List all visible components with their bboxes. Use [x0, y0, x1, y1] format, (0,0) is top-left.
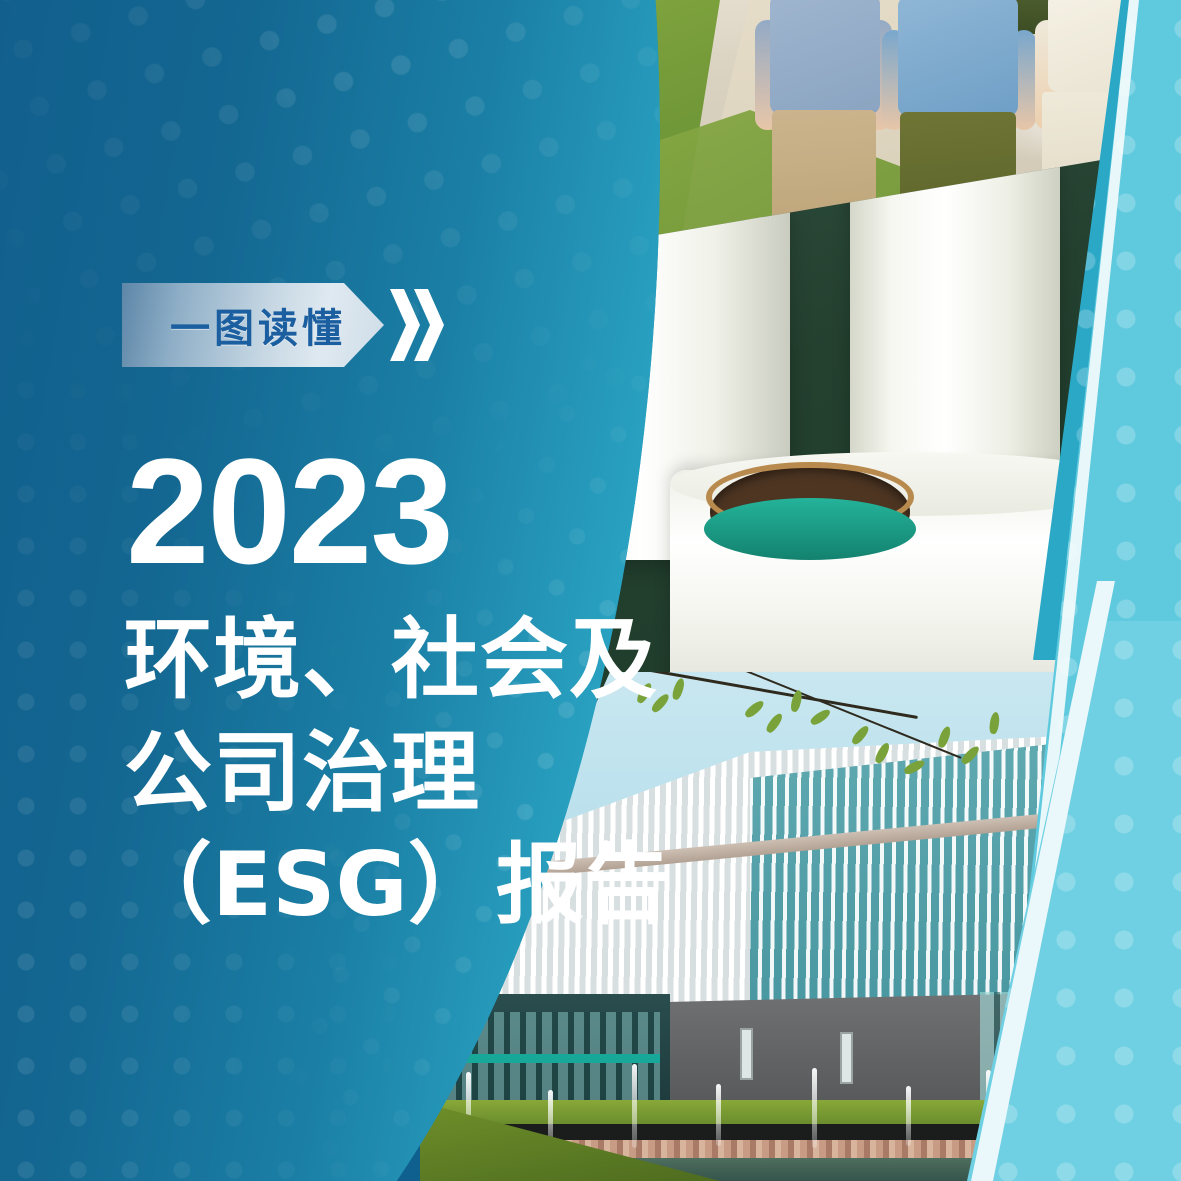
year-heading: 2023 — [126, 436, 452, 586]
teal-tape-band — [704, 498, 916, 560]
title-line-2: 公司治理 — [124, 717, 672, 830]
report-title: 环境、社会及 公司治理 （ESG）报告 — [124, 604, 672, 942]
slit-window-1 — [740, 1028, 753, 1080]
fountain-jet-6 — [906, 1086, 911, 1146]
badge-banner: 一图读懂 — [122, 283, 384, 367]
title-line-3: （ESG）报告 — [124, 829, 672, 942]
leaf — [671, 677, 686, 701]
adult-shirt — [770, 0, 880, 114]
leaf — [789, 689, 803, 713]
badge-one-image-guide[interactable]: 一图读懂 — [122, 283, 448, 367]
esg-report-poster: 一图读懂 2023 环境、社会及 公司治理 （ESG）报告 — [0, 0, 1181, 1181]
branch-secondary — [738, 672, 961, 759]
leaf — [809, 707, 832, 727]
leaf — [873, 741, 891, 765]
leaf — [937, 725, 953, 749]
leaf — [989, 711, 1001, 734]
slit-window-2 — [840, 1032, 853, 1084]
fountain-jet-3 — [632, 1064, 637, 1148]
fountain-jet-4 — [716, 1084, 721, 1146]
leaf — [960, 744, 982, 766]
tree-branch-overlay — [610, 672, 1030, 852]
fountain-jet-5 — [812, 1068, 817, 1148]
leaf — [743, 698, 766, 719]
leaf — [850, 724, 871, 747]
badge-label: 一图读懂 — [122, 296, 346, 354]
child-shirt — [898, 0, 1018, 116]
double-chevron-right-icon — [390, 283, 448, 367]
leaf — [903, 758, 927, 776]
title-line-1: 环境、社会及 — [124, 604, 672, 717]
chevron-right-icon — [390, 289, 420, 361]
leaf — [764, 711, 784, 734]
